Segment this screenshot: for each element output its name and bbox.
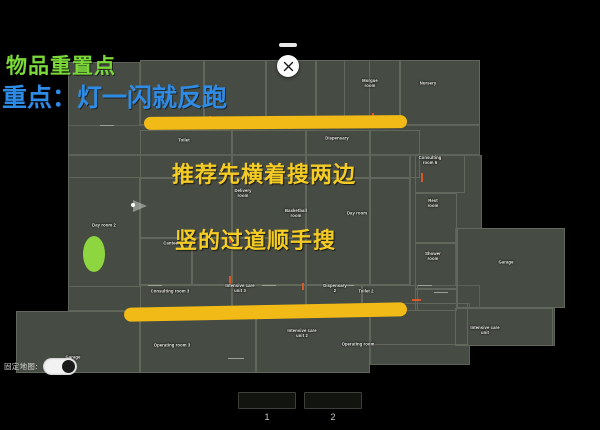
fix-map-control[interactable]: 固定地图: bbox=[4, 358, 77, 375]
corridor-tick bbox=[340, 285, 354, 286]
room-cell bbox=[232, 178, 306, 238]
door-marker bbox=[229, 174, 237, 176]
room-cell bbox=[232, 238, 306, 285]
highlight-stroke-upper bbox=[144, 115, 407, 130]
room-cell bbox=[192, 238, 232, 285]
door-marker bbox=[412, 299, 421, 301]
room-cell bbox=[370, 130, 420, 178]
room-cell bbox=[140, 178, 232, 238]
fix-map-label: 固定地图: bbox=[4, 361, 38, 372]
drag-handle[interactable] bbox=[279, 43, 297, 47]
room-cell bbox=[457, 228, 565, 308]
room-cell bbox=[370, 178, 410, 285]
map-overlay-screen: Morgue room Nursery Toilet Dispensary Co… bbox=[0, 0, 600, 430]
room-cell bbox=[232, 130, 306, 178]
tab-thumbnail[interactable] bbox=[304, 392, 362, 409]
view-cone-icon bbox=[133, 200, 147, 212]
tab-thumbnail[interactable] bbox=[238, 392, 296, 409]
corridor-tick bbox=[228, 358, 244, 359]
tab-label: 2 bbox=[330, 412, 335, 422]
page-tab-bar: 1 2 bbox=[0, 388, 600, 430]
room-cell bbox=[140, 238, 192, 285]
room-cell bbox=[140, 60, 204, 125]
corridor-tick bbox=[148, 285, 162, 286]
room-cell bbox=[68, 177, 140, 287]
close-icon[interactable] bbox=[277, 55, 299, 77]
door-marker bbox=[229, 235, 231, 243]
room-cell bbox=[400, 60, 480, 125]
room-cell bbox=[256, 311, 370, 373]
player-position-marker bbox=[83, 236, 105, 272]
corridor-tick bbox=[100, 125, 114, 126]
toggle-knob bbox=[62, 360, 75, 373]
tab-page-1[interactable]: 1 bbox=[238, 392, 296, 422]
fix-map-toggle[interactable] bbox=[43, 358, 77, 375]
tab-label: 1 bbox=[264, 412, 269, 422]
room-cell bbox=[306, 130, 370, 178]
view-origin-dot bbox=[131, 203, 135, 207]
room-cell bbox=[140, 130, 232, 178]
tab-page-2[interactable]: 2 bbox=[304, 392, 362, 422]
room-cell bbox=[455, 308, 553, 346]
corridor-tick bbox=[418, 285, 432, 286]
room-cell bbox=[415, 243, 457, 289]
room-cell bbox=[415, 155, 465, 193]
door-marker bbox=[302, 283, 304, 290]
room-cell bbox=[306, 178, 370, 285]
door-marker bbox=[421, 173, 423, 182]
corridor-tick bbox=[262, 285, 276, 286]
door-marker bbox=[229, 276, 231, 284]
room-cell bbox=[415, 193, 457, 243]
corridor-tick bbox=[434, 292, 448, 293]
